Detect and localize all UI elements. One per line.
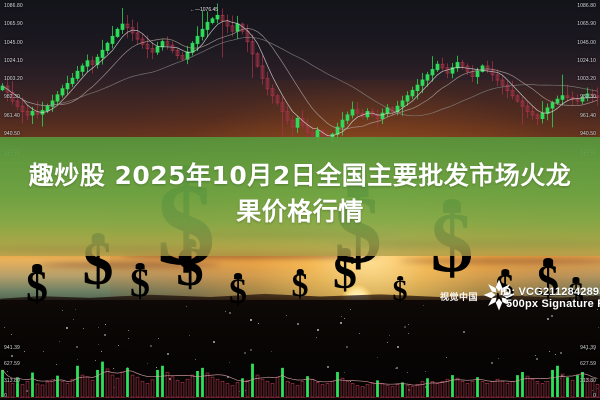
- watermark-license: 500px Signature RF: [506, 298, 600, 310]
- ground-sparkle: [75, 309, 76, 310]
- page-title-line-1: 趣炒股 2025年10月2日全国主要批发市场火龙: [29, 158, 571, 194]
- ground-sparkle: [344, 318, 345, 319]
- price-peak-annotation: ←—1076.45: [190, 7, 218, 13]
- axis-tick-label: 1086.80: [4, 3, 23, 9]
- page-title-line-2: 果价格行情: [236, 194, 364, 230]
- dollar-sign-silhouette: $: [292, 271, 309, 302]
- axis-tick-label: 1003.20: [4, 76, 23, 82]
- dollar-sign-silhouette: $: [130, 265, 150, 301]
- axis-tick-label: 1024.10: [4, 58, 23, 64]
- ground-sparkle: [11, 334, 12, 335]
- axis-tick-label: 0: [593, 393, 596, 399]
- ground-sparkle: [83, 328, 84, 329]
- axis-tick-label: 0: [4, 393, 7, 399]
- dollar-sign-silhouette: $: [26, 267, 48, 307]
- axis-tick-label: 1045.00: [577, 40, 596, 46]
- ground-sparkle: [128, 338, 129, 339]
- axis-tick-label: 1003.20: [577, 76, 596, 82]
- price-candlestick-chart: 1086.801065.901045.001024.101003.20982.3…: [0, 0, 600, 160]
- title-block: 趣炒股 2025年10月2日全国主要批发市场火龙 果价格行情: [0, 137, 600, 256]
- axis-tick-label: 1065.90: [4, 21, 23, 27]
- watermark: 视觉中国 ID: VCG211284289394 500px Signature…: [440, 276, 600, 316]
- axis-tick-label: 941.39: [4, 345, 20, 351]
- ground-sparkle: [105, 324, 106, 325]
- axis-tick-label: 961.40: [580, 113, 596, 119]
- watermark-asset-id: ID: VCG211284289394: [500, 286, 600, 298]
- axis-tick-label: 313.80: [580, 378, 596, 384]
- axis-tick-label: 940.50: [580, 131, 596, 137]
- axis-tick-label: 982.30: [4, 94, 20, 100]
- ground-sparkle: [359, 333, 360, 334]
- dollar-sign-silhouette: $: [393, 277, 408, 304]
- ground-sparkle: [286, 315, 287, 316]
- axis-tick-label: 627.59: [580, 361, 596, 367]
- axis-tick-label: 961.40: [4, 113, 20, 119]
- axis-tick-label: 1086.80: [577, 3, 596, 9]
- watermark-brand-label: 视觉中国: [440, 290, 478, 303]
- axis-tick-label: 940.50: [4, 131, 20, 137]
- ground-sparkle: [423, 305, 424, 306]
- dollar-sign-silhouette: $: [229, 275, 247, 307]
- axis-tick-label: 627.59: [4, 361, 20, 367]
- ground-sparkle: [408, 324, 409, 325]
- volume-svg: [0, 340, 600, 400]
- axis-tick-label: 941.39: [580, 345, 596, 351]
- ground-sparkle: [408, 333, 409, 334]
- screenshot-canvas: $$$$$$$$$$$$$$ 1086.801065.901045.001024…: [0, 0, 600, 400]
- axis-tick-label: 1065.90: [577, 21, 596, 27]
- volume-bar-chart: 941.39627.59313.800 941.39627.59313.800: [0, 340, 600, 400]
- candlestick-svg: [0, 0, 600, 160]
- ground-sparkle: [186, 306, 187, 307]
- axis-tick-label: 982.30: [580, 94, 596, 100]
- axis-tick-label: 1045.00: [4, 40, 23, 46]
- axis-tick-label: 1024.10: [577, 58, 596, 64]
- axis-tick-label: 313.80: [4, 378, 20, 384]
